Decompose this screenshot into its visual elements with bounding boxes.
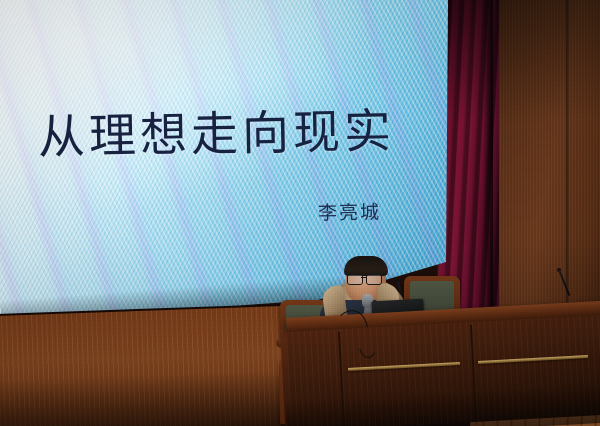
eyeglasses-bridge	[361, 277, 366, 278]
slide-author-name: 李亮城	[318, 197, 381, 225]
lecture-photograph: 从理想走向现实 李亮城	[0, 0, 600, 426]
eyeglasses-right-lens	[366, 274, 382, 285]
eyeglasses-left-lens	[347, 274, 363, 285]
speaker-hair	[344, 256, 388, 276]
stage-front-shadow	[0, 370, 298, 426]
slide-title: 从理想走向现实	[38, 107, 419, 164]
